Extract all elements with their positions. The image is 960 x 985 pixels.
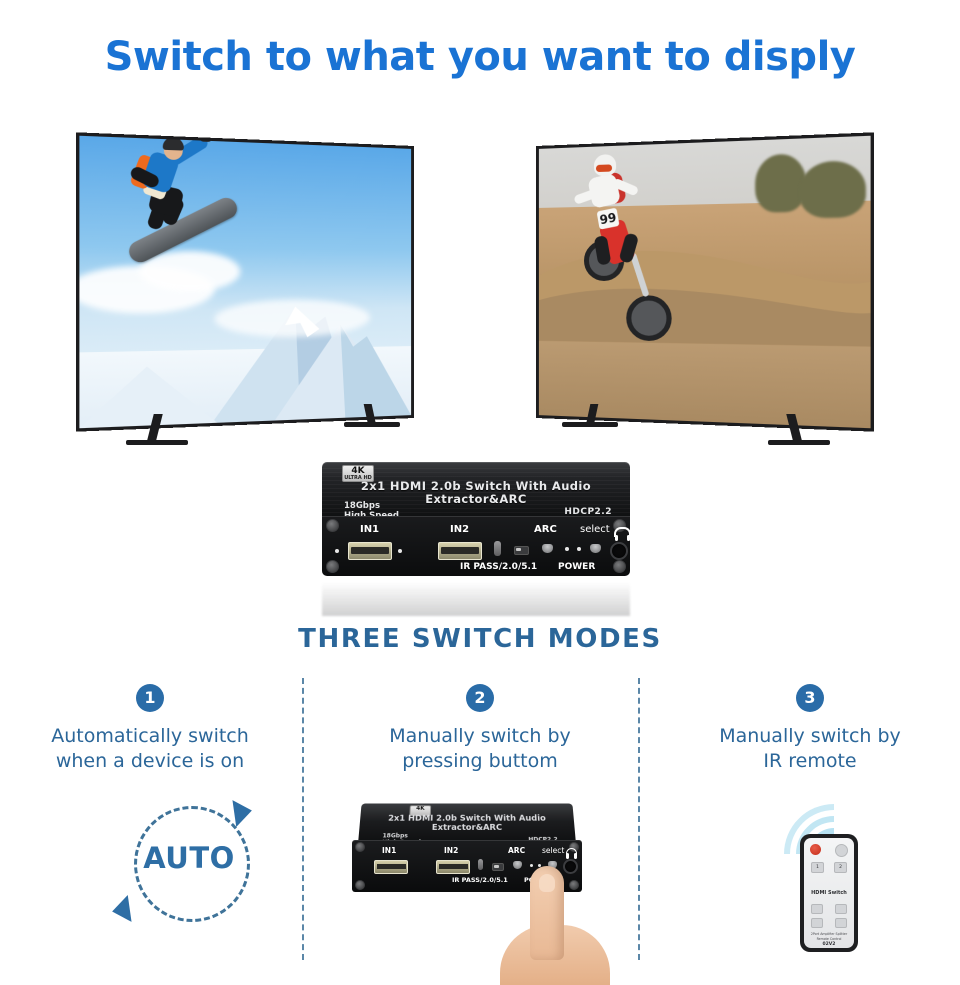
- mode-2-text: Manually switch by pressing buttom: [320, 724, 640, 774]
- tree: [800, 160, 866, 218]
- device-reflection: [322, 582, 630, 616]
- tree: [755, 153, 806, 212]
- small-in1-label: IN1: [382, 846, 396, 855]
- mode-2-line1: Manually switch by: [320, 724, 640, 749]
- ir-pass-label: IR PASS/2.0/5.1: [460, 562, 537, 572]
- infographic-page: Switch to what you want to disply: [0, 0, 960, 960]
- remote-mute-button[interactable]: [835, 844, 848, 857]
- ir-receiver: [494, 541, 501, 556]
- mode-1-text: Automatically switch when a device is on: [0, 724, 310, 774]
- 4k-badge-small-line1: 4K: [416, 805, 425, 811]
- dirt-ridge-icon: [539, 223, 871, 346]
- small-in2-label: IN2: [444, 846, 458, 855]
- in1-label: IN1: [360, 524, 379, 535]
- mode-3-badge: 3: [796, 684, 824, 712]
- remote-button-a[interactable]: [811, 904, 823, 914]
- device-front-panel: IN1 IN2 IR PASS/2.0/5.1 ARC POWER select: [322, 516, 630, 576]
- screw-icon: [613, 560, 626, 573]
- small-audio-toggle[interactable]: [492, 863, 504, 871]
- remote-power-button[interactable]: [810, 844, 821, 855]
- remote-face: 1 2 HDMI Switch 2Port Amplifier Splitter…: [804, 838, 854, 948]
- select-button[interactable]: [590, 544, 601, 553]
- mode-3-line2: IR remote: [650, 749, 960, 774]
- mode-1-line1: Automatically switch: [0, 724, 310, 749]
- fingernail: [539, 874, 555, 892]
- power-led: [565, 547, 569, 551]
- small-hdmi-in2[interactable]: [436, 860, 470, 874]
- remote-model-label: HDMI Switch: [804, 890, 854, 896]
- mode-2-badge: 2: [466, 684, 494, 712]
- small-audio-jack[interactable]: [563, 859, 578, 874]
- auto-cycle-graphic: AUTO: [108, 792, 268, 942]
- small-device-title-line1: 2x1 HDMI 2.0b Switch With Audio: [360, 814, 574, 823]
- small-hdmi-in1[interactable]: [374, 860, 408, 874]
- page-title: Switch to what you want to disply: [0, 34, 960, 80]
- audio-mode-toggle[interactable]: [514, 546, 529, 555]
- remote-button-c[interactable]: [811, 918, 823, 928]
- hdmi-in1-port[interactable]: [348, 542, 392, 560]
- mode-2-line2: pressing buttom: [320, 749, 640, 774]
- mode-column-1: 1 Automatically switch when a device is …: [0, 684, 310, 774]
- small-device-title: 2x1 HDMI 2.0b Switch With Audio Extracto…: [359, 814, 575, 832]
- arc-label: ARC: [534, 524, 557, 535]
- section-title: THREE SWITCH MODES: [0, 624, 960, 654]
- small-arc-label: ARC: [508, 846, 525, 855]
- led-indicator: [335, 549, 339, 553]
- select-label: select: [580, 524, 610, 535]
- screw-icon: [355, 842, 365, 852]
- screw-icon: [326, 519, 339, 532]
- cloud: [139, 251, 240, 292]
- small-power-led: [530, 864, 533, 867]
- small-select-label: select: [542, 846, 564, 855]
- remote-button-d[interactable]: [835, 918, 847, 928]
- tv-right: 99: [536, 132, 874, 431]
- remote-button-2[interactable]: 2: [834, 862, 847, 873]
- small-device-top: 4K 2x1 HDMI 2.0b Switch With Audio Extra…: [358, 804, 576, 844]
- small-arc-button[interactable]: [513, 861, 522, 869]
- small-headphone-icon: [566, 848, 577, 855]
- mode-1-line2: when a device is on: [0, 749, 310, 774]
- mode-column-2: 2 Manually switch by pressing buttom: [320, 684, 640, 774]
- remote-footer-line2: Remote Control: [804, 937, 854, 941]
- power-led: [577, 547, 581, 551]
- headphone-icon: [614, 527, 631, 537]
- screw-icon: [355, 880, 365, 890]
- mode-column-3: 3 Manually switch by IR remote: [650, 684, 960, 774]
- tv-left-foot: [126, 440, 188, 445]
- pressing-finger: [530, 866, 564, 960]
- ir-remote-graphic: 1 2 HDMI Switch 2Port Amplifier Splitter…: [770, 792, 890, 957]
- device-top-panel: 4K ULTRA HD 2x1 HDMI 2.0b Switch With Au…: [322, 462, 630, 518]
- arrow-clockwise-bottom-icon: [112, 892, 142, 922]
- screw-icon: [326, 560, 339, 573]
- tv-left: [76, 132, 414, 431]
- audio-out-jack[interactable]: [610, 542, 628, 560]
- power-label: POWER: [558, 562, 595, 572]
- led-indicator: [398, 549, 402, 553]
- remote-button-1[interactable]: 1: [811, 862, 824, 873]
- tv-left-screen: [76, 132, 414, 431]
- auto-label: AUTO: [134, 841, 244, 875]
- in2-label: IN2: [450, 524, 469, 535]
- mode-1-badge: 1: [136, 684, 164, 712]
- tv-left-foot-2: [344, 422, 400, 427]
- small-device-title-line2: Extractor&ARC: [359, 823, 575, 832]
- ir-remote[interactable]: 1 2 HDMI Switch 2Port Amplifier Splitter…: [800, 834, 858, 952]
- tv-right-screen: 99: [536, 132, 874, 431]
- rider-number: 99: [597, 208, 620, 230]
- hdmi-switch-device: 4K ULTRA HD 2x1 HDMI 2.0b Switch With Au…: [322, 462, 630, 582]
- mode-3-text: Manually switch by IR remote: [650, 724, 960, 774]
- screw-icon: [569, 880, 579, 890]
- remote-model-number: 02V2: [804, 942, 854, 947]
- small-ir-receiver: [478, 859, 483, 870]
- hdmi-in2-port[interactable]: [438, 542, 482, 560]
- remote-footer-line1: 2Port Amplifier Splitter: [804, 932, 854, 936]
- small-ir-pass-label: IR PASS/2.0/5.1: [452, 876, 508, 884]
- remote-button-b[interactable]: [835, 904, 847, 914]
- tv-right-foot-2: [562, 422, 618, 427]
- mode-3-line1: Manually switch by: [650, 724, 960, 749]
- arc-button[interactable]: [542, 544, 553, 553]
- tv-right-foot: [768, 440, 830, 445]
